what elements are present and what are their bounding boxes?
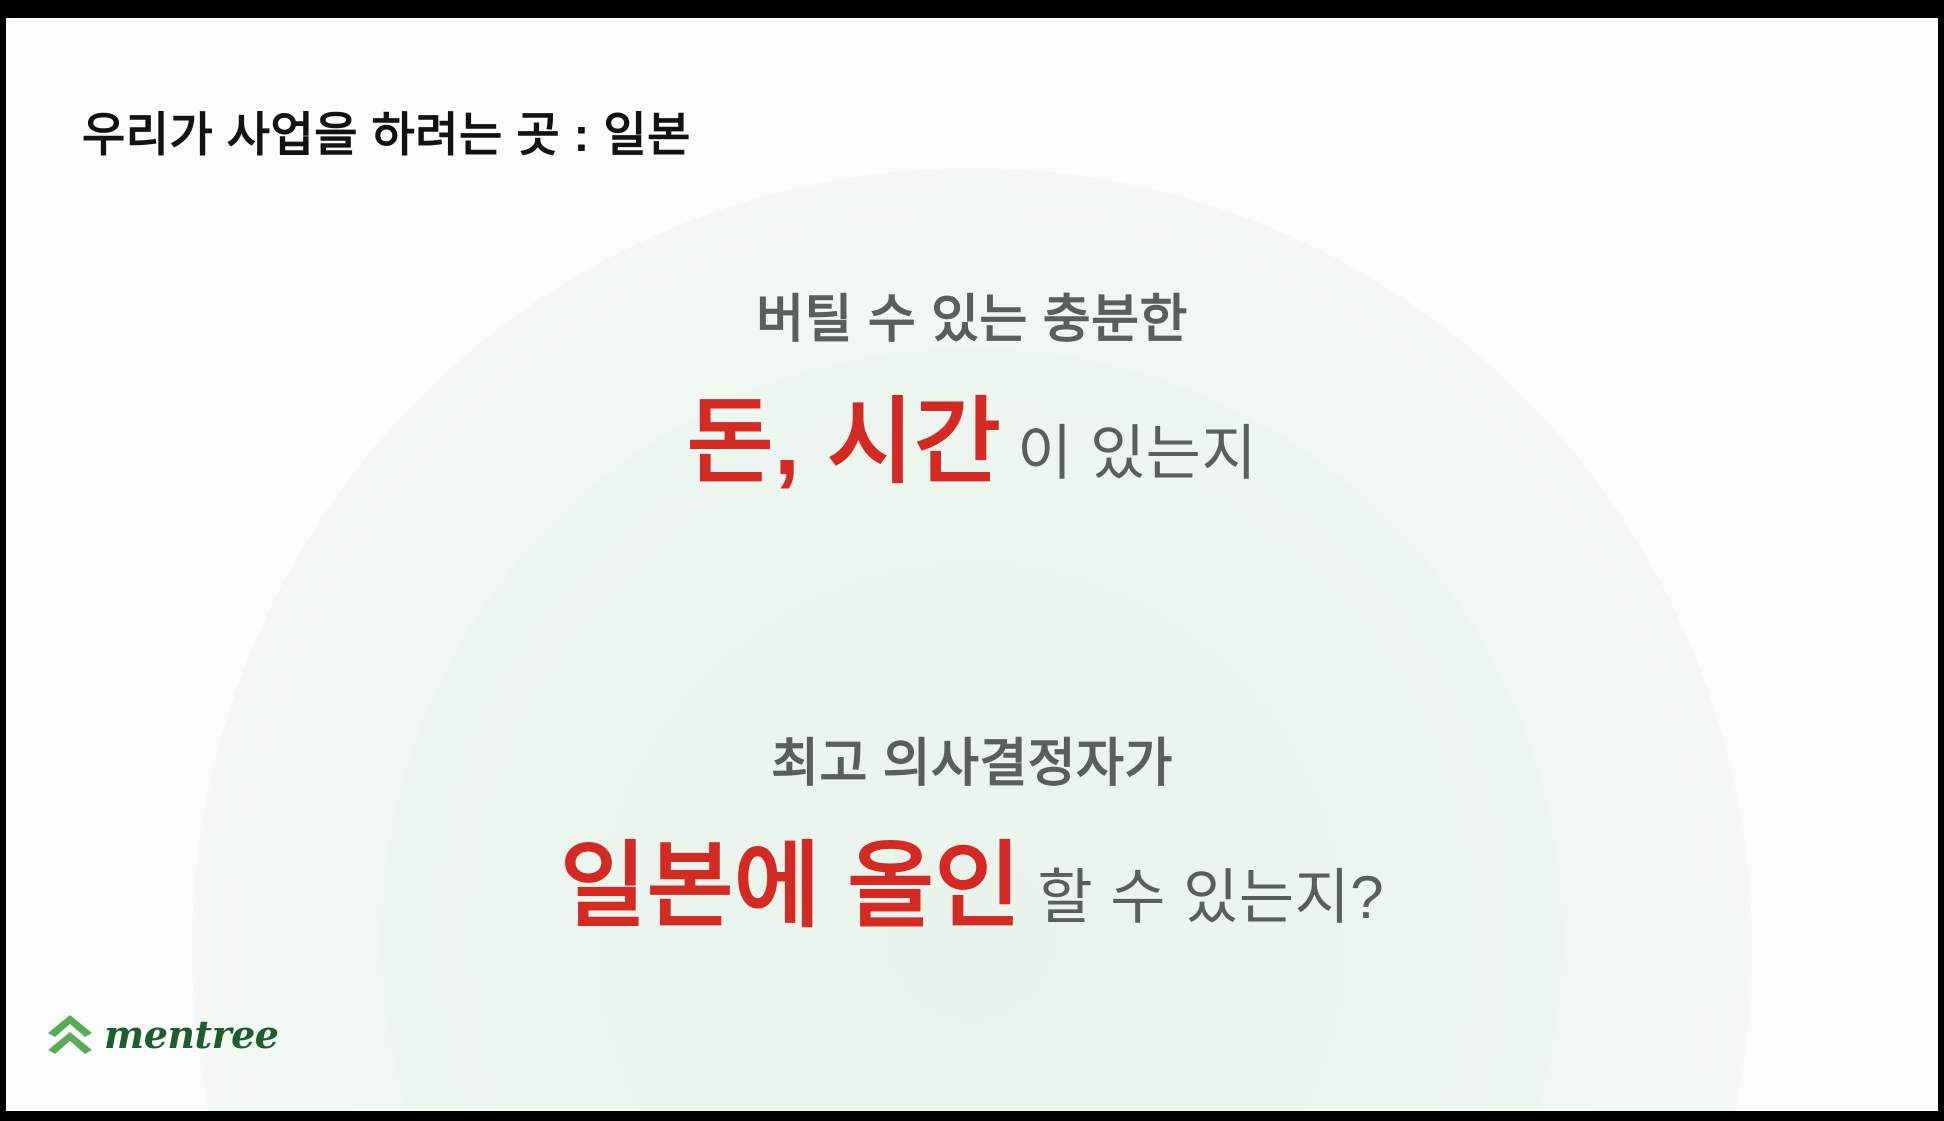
brand-wordmark: mentree: [104, 1016, 278, 1054]
letterbox-bar-bottom: [0, 1111, 1944, 1121]
statement-2-lead-text: 최고 의사결정자가: [0, 734, 1944, 795]
slide-content: 우리가 사업을 하려는 곳 : 일본 버틸 수 있는 충분한 돈, 시간이 있는…: [0, 18, 1944, 1111]
tree-chevron-icon: [42, 1011, 98, 1059]
statement-1-tail-text: 이 있는지: [1017, 420, 1257, 487]
slide-canvas: 우리가 사업을 하려는 곳 : 일본 버틸 수 있는 충분한 돈, 시간이 있는…: [0, 18, 1944, 1111]
slide-root: 우리가 사업을 하려는 곳 : 일본 버틸 수 있는 충분한 돈, 시간이 있는…: [0, 0, 1944, 1121]
statement-1-highlight-text: 돈, 시간: [687, 389, 1001, 494]
brand-logo: mentree: [42, 1011, 278, 1059]
statement-block-1: 버틸 수 있는 충분한 돈, 시간이 있는지: [0, 290, 1944, 495]
slide-title: 우리가 사업을 하려는 곳 : 일본: [82, 96, 691, 165]
statement-2-emphasis-line: 일본에 올인할 수 있는지?: [0, 833, 1944, 938]
statement-block-2: 최고 의사결정자가 일본에 올인할 수 있는지?: [0, 734, 1944, 939]
statement-2-tail-text: 할 수 있는지?: [1037, 864, 1384, 931]
letterbox-edge-right: [1938, 0, 1944, 1121]
statement-1-emphasis-line: 돈, 시간이 있는지: [0, 389, 1944, 494]
letterbox-bar-top: [0, 0, 1944, 18]
letterbox-edge-left: [0, 0, 6, 1121]
statement-1-lead-text: 버틸 수 있는 충분한: [0, 290, 1944, 351]
statement-2-highlight-text: 일본에 올인: [560, 833, 1022, 938]
